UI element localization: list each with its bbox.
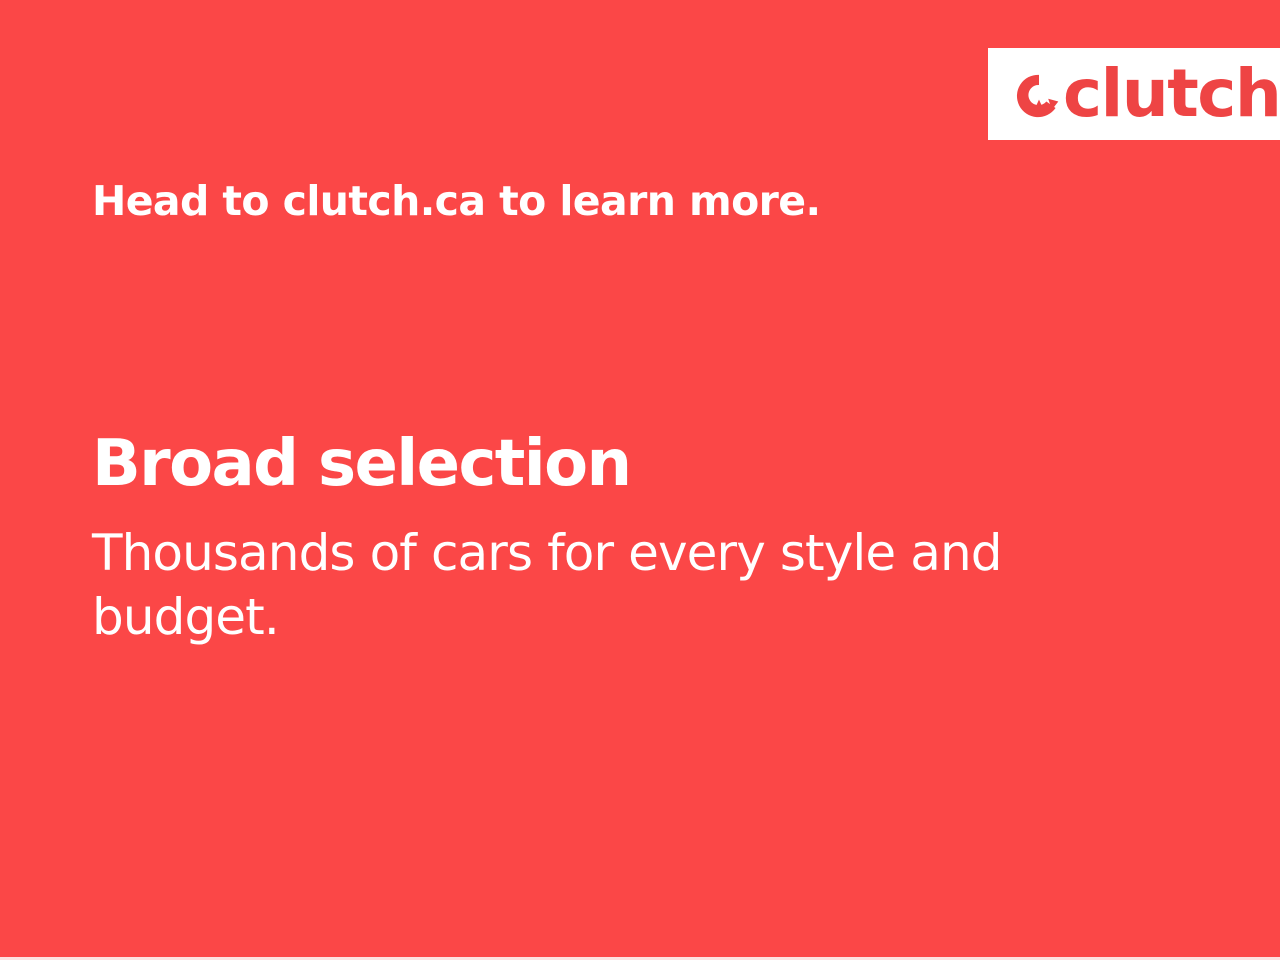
clutch-wordmark: clutch [1063, 61, 1280, 127]
kicker-text: Head to clutch.ca to learn more. [92, 178, 820, 225]
brand-logo-plate: clutch [988, 48, 1280, 140]
promo-slide: clutch Head to clutch.ca to learn more. … [0, 0, 1280, 960]
clutch-c-mark-icon [1016, 73, 1062, 119]
message-block: Broad selection Thousands of cars for ev… [92, 432, 1052, 649]
subcopy: Thousands of cars for every style and bu… [92, 521, 1012, 649]
clutch-logo-lockup: clutch [1016, 61, 1280, 127]
headline: Broad selection [92, 432, 1052, 497]
